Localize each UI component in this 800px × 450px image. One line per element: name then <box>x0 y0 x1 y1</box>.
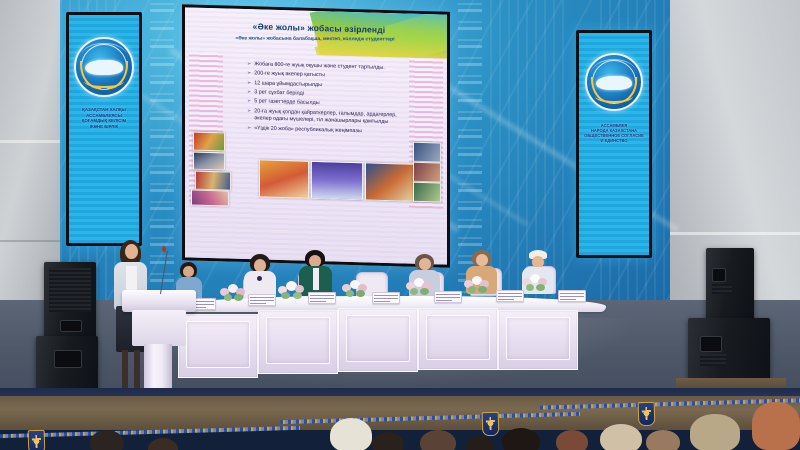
led-banner-right-text: АССАМБЛЕЯ НАРОДА КАЗАХСТАНА ОБЩЕСТВЕННОЕ… <box>584 123 644 143</box>
flower-bouquet <box>404 276 438 296</box>
audience-head <box>330 418 372 450</box>
audience-head <box>646 430 680 450</box>
presentation-slide: «Әке жолы» жобасы әзірленді «Әке жолы» ж… <box>185 7 447 264</box>
audience-head <box>690 414 740 450</box>
podium-body <box>132 310 186 346</box>
audience-head <box>556 430 588 450</box>
collage-photo <box>311 161 363 200</box>
bullet-marker-icon: ➢ <box>247 61 251 69</box>
led-banner-left-text: ҚАЗАҚСТАН ХАЛҚЫ АССАМБЛЕЯСЫ ҚОҒАМДЫҚ КЕЛ… <box>74 107 134 129</box>
assembly-emblem-icon <box>74 37 134 97</box>
table-front-panel <box>258 310 338 374</box>
assembly-emblem-icon-right <box>585 53 643 111</box>
name-placard <box>372 292 400 304</box>
bullet-marker-icon: ➢ <box>247 98 251 106</box>
slide-bullet-list: ➢Жобаға 800-ге жуық оқушы және студент т… <box>247 61 397 138</box>
collage-photo <box>193 132 225 152</box>
pa-speaker-left-sub <box>36 336 98 392</box>
audience-head <box>90 430 124 450</box>
flower-bouquet <box>340 278 374 298</box>
led-video-wall: «Әке жолы» жобасы әзірленді «Әке жолы» ж… <box>182 4 450 267</box>
audience-head <box>372 432 404 450</box>
table-front-panel <box>338 308 418 372</box>
table-front-panel <box>418 308 498 370</box>
name-placard <box>308 292 336 304</box>
flower-bouquet <box>218 282 252 302</box>
audience-head <box>752 402 800 450</box>
pa-speaker-left-top <box>44 262 96 340</box>
audience-head <box>420 430 456 450</box>
collage-photo <box>413 142 441 163</box>
kazakh-ornament-shield <box>28 430 46 450</box>
flower-bouquet <box>520 272 554 292</box>
name-placard <box>558 290 586 302</box>
collage-photo <box>195 171 231 191</box>
collage-photo <box>259 159 309 198</box>
led-banner-left: ҚАЗАҚСТАН ХАЛҚЫ АССАМБЛЕЯСЫ ҚОҒАМДЫҚ КЕЛ… <box>66 12 142 246</box>
led-banner-right: АССАМБЛЕЯ НАРОДА КАЗАХСТАНА ОБЩЕСТВЕННОЕ… <box>576 30 652 258</box>
pa-speaker-right-sub <box>688 318 770 384</box>
bullet-marker-icon: ➢ <box>247 70 251 78</box>
collage-photo <box>413 182 441 203</box>
audience-head <box>600 424 642 450</box>
collage-photo <box>365 162 417 201</box>
table-front-panel <box>498 310 578 370</box>
collage-photo <box>413 162 441 183</box>
kazakh-ornament-shield <box>638 402 656 426</box>
audience-head <box>148 438 178 450</box>
flower-bouquet <box>276 280 310 300</box>
presidium-table <box>176 296 606 374</box>
collage-photo <box>191 190 229 207</box>
name-placard <box>248 294 276 306</box>
audience-head <box>466 436 494 450</box>
bullet-marker-icon: ➢ <box>247 125 251 133</box>
bullet-marker-icon: ➢ <box>247 80 251 88</box>
pa-speaker-right-top <box>706 248 754 322</box>
conference-hall-scene: ҚАЗАҚСТАН ХАЛҚЫ АССАМБЛЕЯСЫ ҚОҒАМДЫҚ КЕЛ… <box>0 0 800 450</box>
audience-head <box>502 428 540 450</box>
bullet-marker-icon: ➢ <box>247 108 251 124</box>
collage-photo <box>193 152 225 171</box>
name-placard <box>434 291 462 303</box>
bullet-marker-icon: ➢ <box>247 89 251 97</box>
microphone-capsule <box>162 246 166 252</box>
flower-bouquet <box>462 274 496 294</box>
kazakh-ornament-shield <box>482 412 500 436</box>
